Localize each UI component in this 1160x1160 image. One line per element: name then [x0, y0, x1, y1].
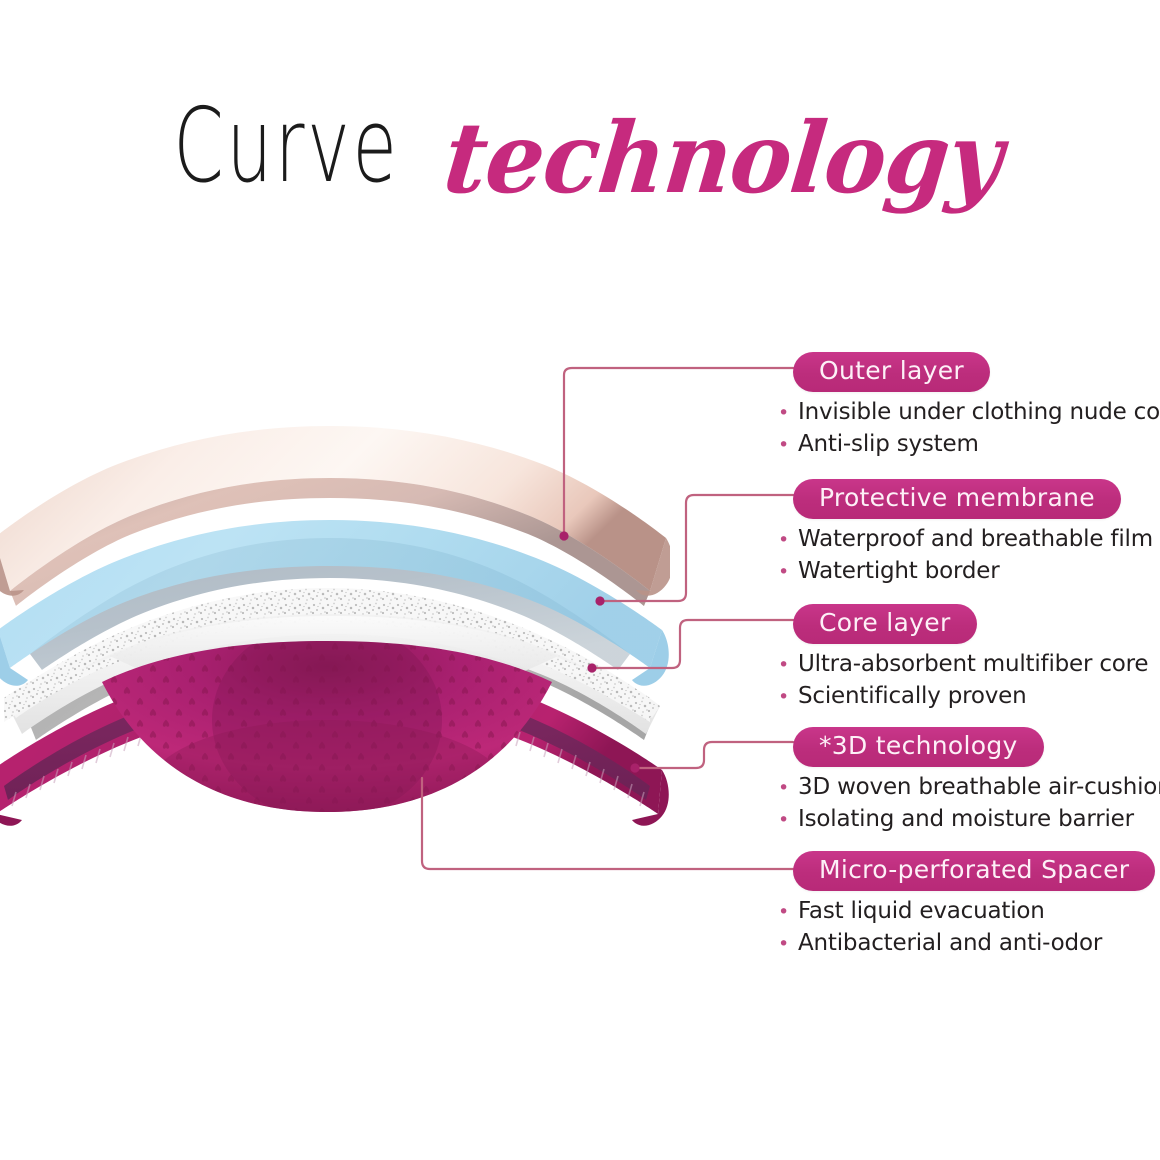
callout-bullets-3d-technology: • 3D woven breathable air-cushion • Isol…	[776, 772, 1160, 836]
bullet-text: Invisible under clothing nude color	[798, 397, 1160, 429]
bullet-text: Fast liquid evacuation	[798, 896, 1045, 928]
bullet-dot-icon: •	[778, 779, 789, 798]
callout-title-core-layer[interactable]: Core layer	[793, 604, 977, 644]
bullet-dot-icon: •	[778, 563, 789, 582]
bullet-dot-icon: •	[778, 436, 789, 455]
bullet-dot-icon: •	[778, 656, 789, 675]
callout-title-3d-technology[interactable]: *3D technology	[793, 727, 1044, 767]
title-word-curve: Curve	[174, 87, 400, 206]
callout-bullets-micro-perforated-spacer: • Fast liquid evacuation • Antibacterial…	[776, 896, 1160, 960]
callout-bullets-outer-layer: • Invisible under clothing nude color • …	[776, 397, 1160, 461]
title-word-technology: technology	[439, 101, 1007, 215]
bullet-text: 3D woven breathable air-cushion	[798, 772, 1160, 804]
list-item: • Waterproof and breathable film	[776, 524, 1160, 556]
callout-micro-perforated-spacer: Micro-perforated Spacer • Fast liquid ev…	[776, 851, 1160, 960]
list-item: • Fast liquid evacuation	[776, 896, 1160, 928]
list-item: • Anti-slip system	[776, 429, 1160, 461]
bullet-dot-icon: •	[778, 404, 789, 423]
callout-title-protective-membrane[interactable]: Protective membrane	[793, 479, 1121, 519]
poster-canvas: Curvetechnology	[0, 0, 1160, 1160]
bullet-text: Watertight border	[798, 556, 999, 588]
callout-title-outer-layer[interactable]: Outer layer	[793, 352, 990, 392]
bullet-dot-icon: •	[778, 903, 789, 922]
bullet-text: Anti-slip system	[798, 429, 979, 461]
bullet-text: Ultra-absorbent multifiber core	[798, 649, 1148, 681]
list-item: • Invisible under clothing nude color	[776, 397, 1160, 429]
bullet-text: Scientifically proven	[798, 681, 1026, 713]
bullet-text: Isolating and moisture barrier	[798, 804, 1134, 836]
layer-stack-illustration	[0, 420, 670, 840]
callout-bullets-core-layer: • Ultra-absorbent multifiber core • Scie…	[776, 649, 1160, 713]
bullet-dot-icon: •	[778, 811, 789, 830]
bullet-text: Antibacterial and anti-odor	[798, 928, 1102, 960]
callout-3d-technology: *3D technology • 3D woven breathable air…	[776, 727, 1160, 836]
list-item: • Watertight border	[776, 556, 1160, 588]
callout-bullets-protective-membrane: • Waterproof and breathable film • Water…	[776, 524, 1160, 588]
list-item: • Isolating and moisture barrier	[776, 804, 1160, 836]
callout-outer-layer: Outer layer • Invisible under clothing n…	[776, 352, 1160, 461]
list-item: • Ultra-absorbent multifiber core	[776, 649, 1160, 681]
callout-title-micro-perforated-spacer[interactable]: Micro-perforated Spacer	[793, 851, 1155, 891]
page-title: Curvetechnology	[0, 104, 1160, 224]
bullet-dot-icon: •	[778, 935, 789, 954]
list-item: • 3D woven breathable air-cushion	[776, 772, 1160, 804]
bullet-dot-icon: •	[778, 688, 789, 707]
list-item: • Scientifically proven	[776, 681, 1160, 713]
bullet-dot-icon: •	[778, 531, 789, 550]
list-item: • Antibacterial and anti-odor	[776, 928, 1160, 960]
bullet-text: Waterproof and breathable film	[798, 524, 1153, 556]
callout-protective-membrane: Protective membrane • Waterproof and bre…	[776, 479, 1160, 588]
callout-core-layer: Core layer • Ultra-absorbent multifiber …	[776, 604, 1160, 713]
